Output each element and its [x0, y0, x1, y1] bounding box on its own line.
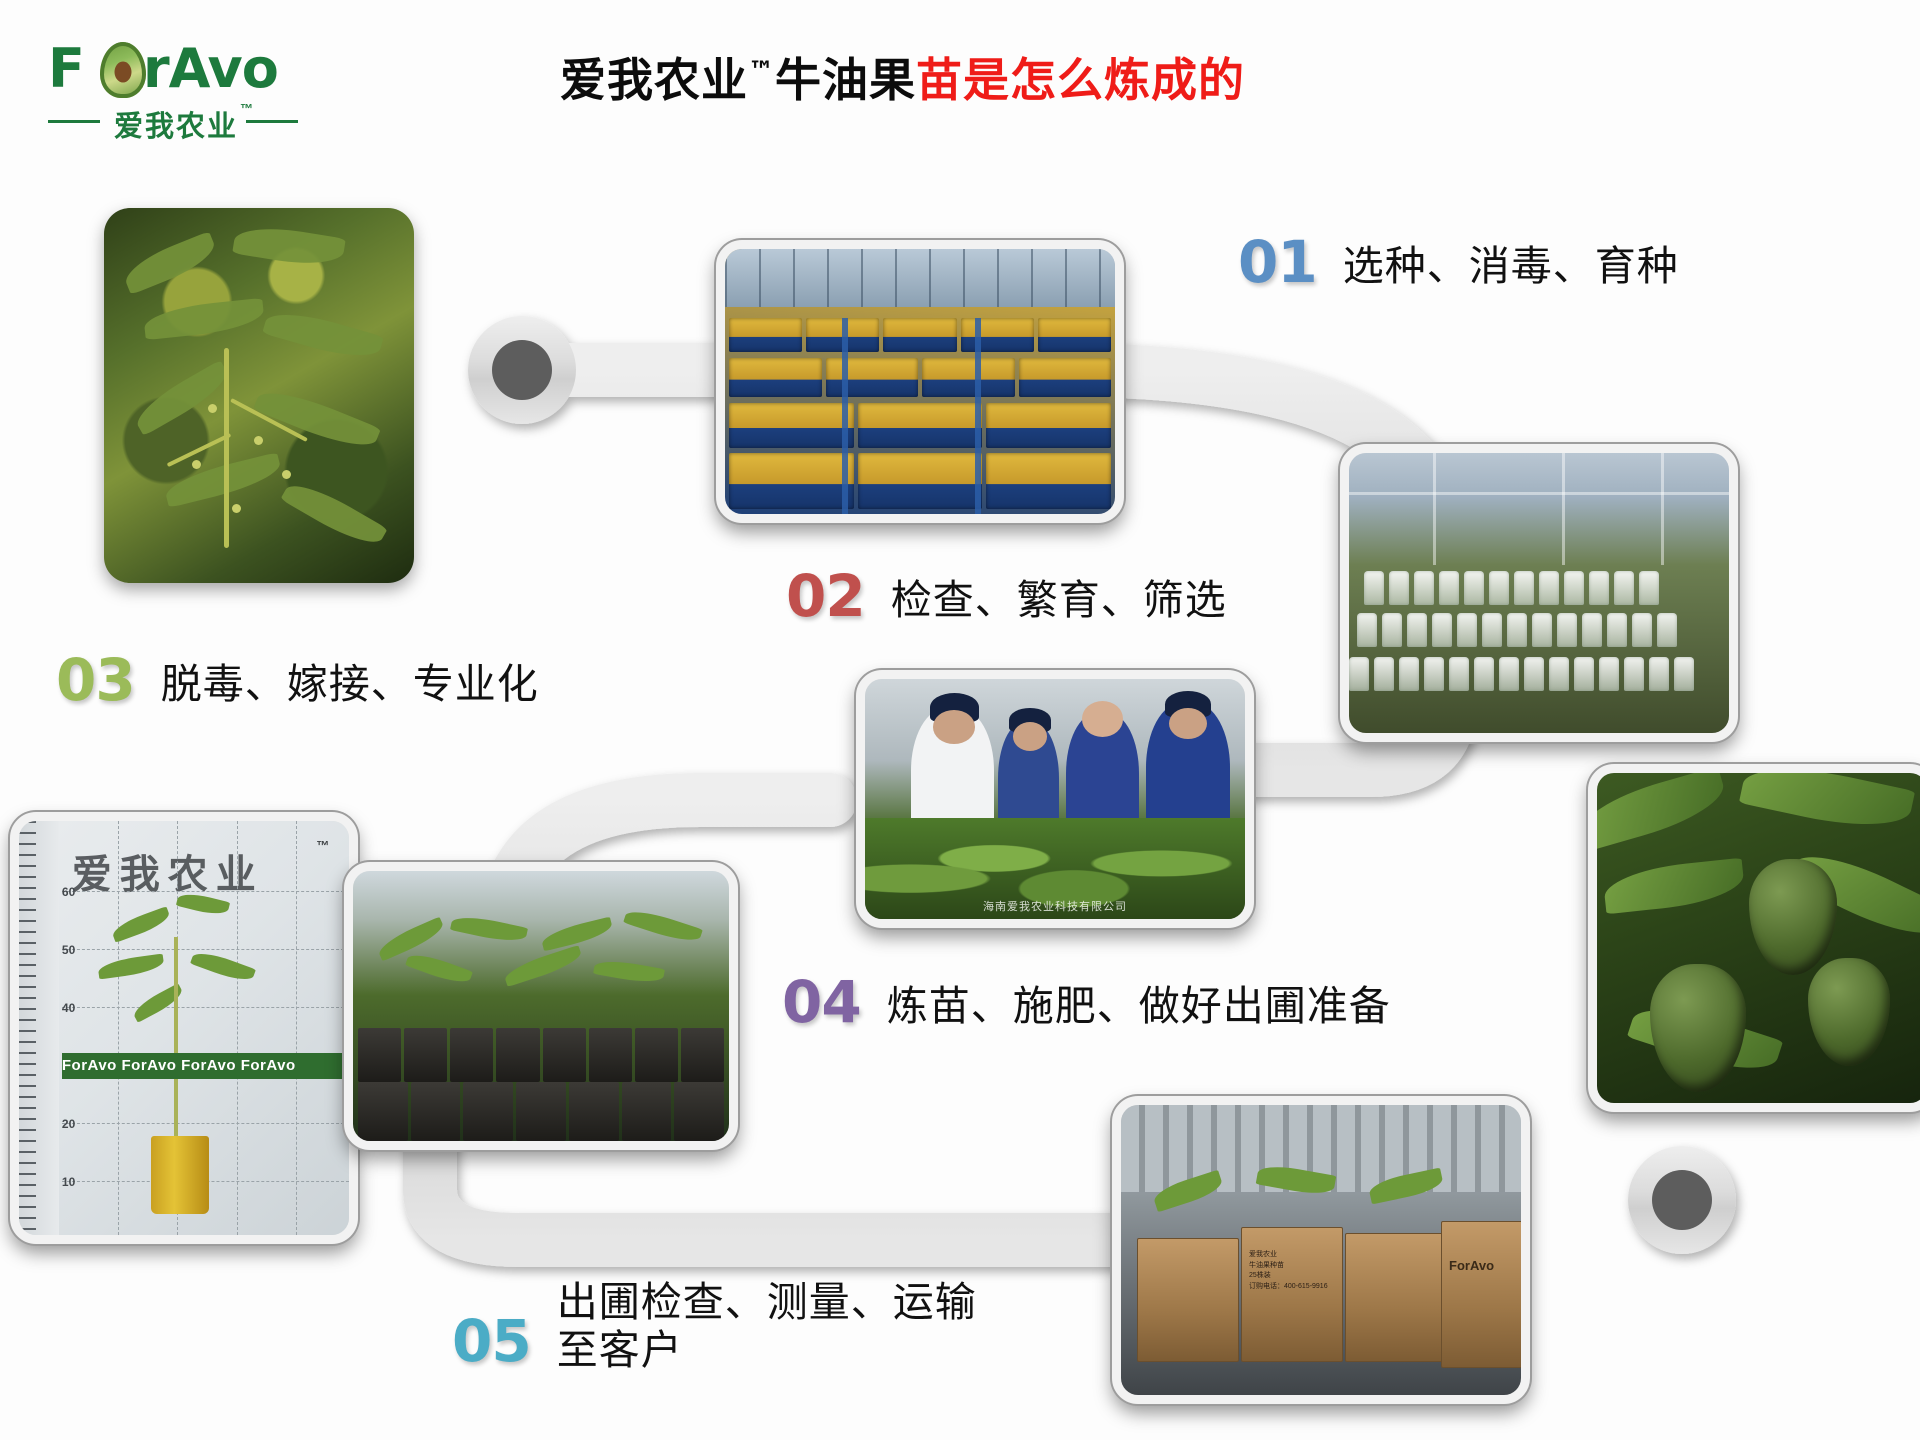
carton-label-line4: 订购电话：400-615-9916: [1249, 1282, 1328, 1293]
step-02: 02 检查、繁育、筛选: [786, 562, 1227, 630]
step-01-number: 01: [1238, 228, 1317, 296]
step-05-text: 出圃检查、测量、运输 至客户: [557, 1278, 977, 1375]
photo-potted-nursery: [344, 862, 738, 1150]
photo-watermark: 海南爱我农业科技有限公司: [865, 898, 1245, 914]
ruler-tick-60: 60: [62, 885, 75, 899]
infographic-canvas: F rAvo 爱我农业 ™ 爱我农业™牛油果苗是怎么炼成的: [0, 0, 1920, 1440]
carton-label-line2: 牛油果种苗: [1249, 1261, 1328, 1272]
photo-avocados-on-tree: [1588, 764, 1920, 1112]
photo-shipping-cartons: 爱我农业 牛油果种苗 25株装 订购电话：400-615-9916 ForAvo: [1112, 1096, 1530, 1404]
foravo-band-text: ForAvo ForAvo ForAvo ForAvo: [62, 1057, 296, 1074]
ruler-tick-10: 10: [62, 1175, 75, 1189]
step-01-text: 选种、消毒、育种: [1343, 232, 1679, 292]
step-02-number: 02: [786, 562, 865, 630]
photo-inspection-team: 海南爱我农业科技有限公司: [856, 670, 1254, 928]
step-02-text: 检查、繁育、筛选: [891, 566, 1227, 626]
carton-label-line1: 爱我农业: [1249, 1250, 1328, 1261]
step-01: 01 选种、消毒、育种: [1238, 228, 1679, 296]
ruler-tick-50: 50: [62, 943, 75, 957]
carton-side-label: ForAvo: [1449, 1256, 1494, 1276]
photo-flowering-branch: [104, 208, 414, 583]
step-04: 04 炼苗、施肥、做好出圃准备: [782, 968, 1391, 1036]
step-05-number: 05: [452, 1307, 531, 1375]
step-04-number: 04: [782, 968, 861, 1036]
ruler-tick-40: 40: [62, 1001, 75, 1015]
step-05-text-line2: 至客户: [557, 1326, 683, 1374]
carton-label-line3: 25株装: [1249, 1271, 1328, 1282]
carton-label: 爱我农业 牛油果种苗 25株装 订购电话：400-615-9916: [1249, 1250, 1328, 1292]
photo-grafted-bagged-plants: [1340, 444, 1738, 742]
photo-measured-seedling: 爱我农业 ™ 60 50 40 30 20 10 ForAvo ForAvo F…: [10, 812, 358, 1244]
step-03-number: 03: [56, 646, 135, 714]
ruler-watermark-tm: ™: [316, 838, 329, 853]
step-03: 03 脱毒、嫁接、专业化: [56, 646, 539, 714]
step-05-text-line1: 出圃检查、测量、运输: [557, 1278, 977, 1326]
ruler-tick-20: 20: [62, 1117, 75, 1131]
ruler-scale: [19, 821, 59, 1235]
photo-seed-trays: [716, 240, 1124, 523]
step-03-text: 脱毒、嫁接、专业化: [161, 650, 539, 710]
step-05: 05 出圃检查、测量、运输 至客户: [452, 1278, 977, 1375]
foravo-band: ForAvo ForAvo ForAvo ForAvo: [62, 1053, 349, 1079]
step-04-text: 炼苗、施肥、做好出圃准备: [887, 972, 1391, 1032]
